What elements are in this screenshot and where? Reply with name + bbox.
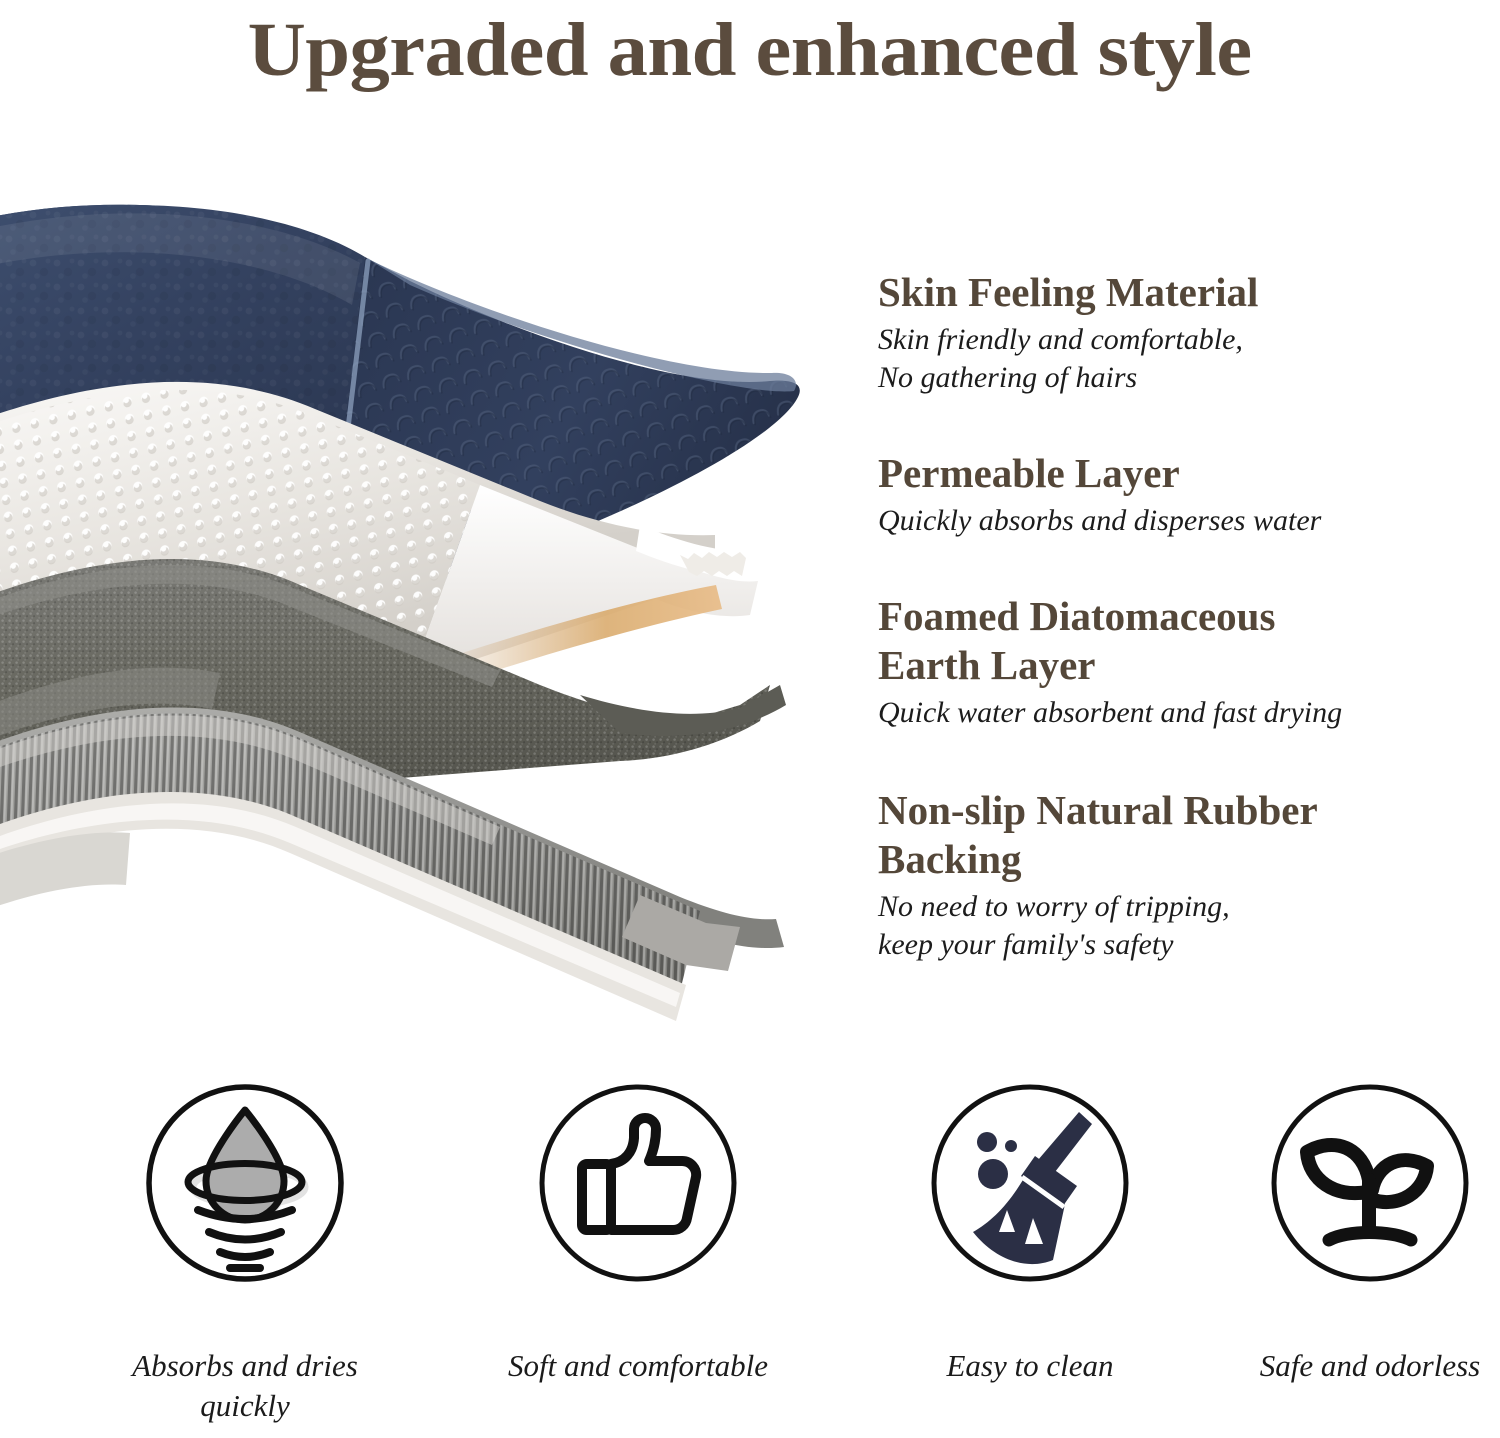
thumbs-up-icon [537,1082,739,1284]
page-title: Upgraded and enhanced style [248,5,1252,95]
feature-heading: Non-slip Natural Rubber Backing [878,786,1478,884]
feature-list: Skin Feeling Material Skin friendly and … [878,268,1478,964]
feature-block-foamed-diatomaceous-earth-layer: Foamed Diatomaceous Earth Layer Quick wa… [878,592,1478,732]
feature-block-skin-feeling-material: Skin Feeling Material Skin friendly and … [878,268,1478,397]
feature-description: No need to worry of tripping, keep your … [878,888,1478,964]
feature-description: Quick water absorbent and fast drying [878,694,1478,732]
title-bar: Upgraded and enhanced style [0,0,1500,100]
broom-sweeping-icon [929,1082,1131,1284]
benefit-item-easy-to-clean: Easy to clean [865,1082,1195,1386]
feature-heading: Permeable Layer [878,449,1478,498]
feature-heading: Skin Feeling Material [878,268,1478,317]
feature-block-non-slip-natural-rubber-backing: Non-slip Natural Rubber Backing No need … [878,786,1478,964]
feature-description: Quickly absorbs and disperses water [878,502,1478,540]
feature-block-permeable-layer: Permeable Layer Quickly absorbs and disp… [878,449,1478,540]
benefit-label: Safe and odorless [1205,1346,1500,1386]
benefit-label: Soft and comfortable [473,1346,803,1386]
benefit-label: Easy to clean [865,1346,1195,1386]
benefit-item-soft-and-comfortable: Soft and comfortable [473,1082,803,1386]
feature-heading: Foamed Diatomaceous Earth Layer [878,592,1478,690]
feature-description: Skin friendly and comfortable, No gather… [878,321,1478,397]
benefit-icon-row: Absorbs and dries quickly Soft and comfo… [0,1082,1500,1438]
benefit-item-absorbs-and-dries-quickly: Absorbs and dries quickly [80,1082,410,1426]
sprout-plant-icon [1269,1082,1471,1284]
benefit-label: Absorbs and dries quickly [80,1346,410,1426]
benefit-item-safe-and-odorless: Safe and odorless [1205,1082,1500,1386]
water-drop-ripple-icon [144,1082,346,1284]
product-layered-mat-image [0,185,810,1045]
